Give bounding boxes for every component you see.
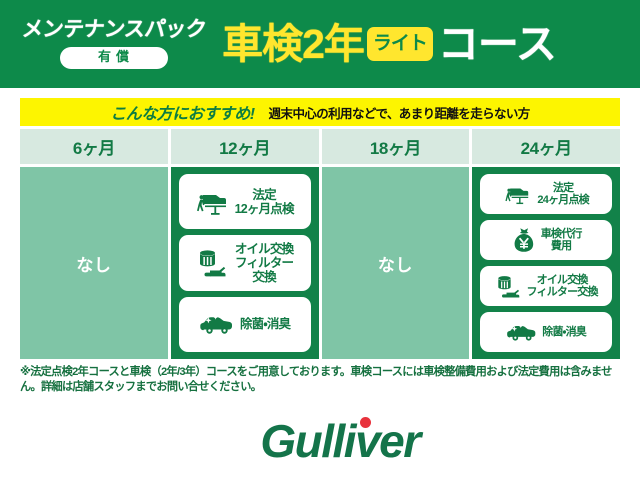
service-label-legal-inspection-24: 法定 24ヶ月点検	[537, 182, 588, 207]
shaken-2year-title: 車検2年	[222, 24, 364, 65]
service-card-oil-change-12[interactable]: オイル交換 フィルター 交換	[179, 235, 311, 290]
plan-column-18: 18ヶ月 なし	[322, 129, 470, 359]
column-body-12: 法定 12ヶ月点検	[171, 167, 319, 359]
service-label-agency-fee-24: 車検代行 費用	[541, 228, 582, 253]
content-area: こんな方におすすめ! 週末中心の利用などで、あまり距離を走らない方 6ヶ月 なし…	[0, 88, 640, 464]
gulliver-logo-label: Gulliver	[260, 415, 419, 467]
column-header-18: 18ヶ月	[322, 129, 470, 164]
column-body-18: なし	[322, 167, 470, 359]
recommend-label: こんな方におすすめ!	[110, 100, 254, 124]
column-body-24: 法定 24ヶ月点検	[472, 167, 620, 359]
brand-logo: Gulliver	[20, 418, 640, 464]
money-bag-yen-icon	[511, 227, 537, 253]
header-pack-group: メンテナンスパック 有償	[22, 19, 206, 68]
paid-badge: 有償	[60, 47, 168, 68]
plan-column-24: 24ヶ月	[472, 129, 620, 359]
column-header-12: 12ヶ月	[171, 129, 319, 164]
service-card-sanitize-24[interactable]: 除菌・消臭	[480, 312, 612, 352]
service-label-oil-change-12: オイル交換 フィルター 交換	[235, 242, 294, 284]
recommend-banner: こんな方におすすめ! 週末中心の利用などで、あまり距離を走らない方	[20, 98, 620, 126]
plan-column-6: 6ヶ月 なし	[20, 129, 168, 359]
plan-table: 6ヶ月 なし 12ヶ月	[20, 129, 620, 359]
service-card-sanitize-12[interactable]: 除菌・消臭	[179, 297, 311, 352]
recommend-description: 週末中心の利用などで、あまり距離を走らない方	[269, 103, 530, 122]
service-label-sanitize-24: 除菌・消臭	[542, 326, 586, 338]
header-banner: メンテナンスパック 有償 車検2年 ライト コース	[0, 0, 640, 88]
plan-column-12: 12ヶ月	[171, 129, 319, 359]
light-plan-badge: ライト	[367, 27, 433, 61]
course-title: コース	[438, 24, 556, 65]
gulliver-logo-text: Gulliver	[260, 418, 419, 464]
service-card-legal-inspection-12[interactable]: 法定 12ヶ月点検	[179, 174, 311, 229]
no-service-label-18: なし	[378, 251, 413, 276]
oil-filter-change-icon	[196, 248, 230, 278]
column-body-6: なし	[20, 167, 168, 359]
header-course-group: 車検2年 ライト コース	[222, 24, 640, 65]
car-sanitize-icon	[199, 313, 235, 335]
service-label-legal-inspection-12: 法定 12ヶ月点検	[235, 188, 294, 216]
column-header-24: 24ヶ月	[472, 129, 620, 164]
car-lift-inspection-icon	[196, 188, 230, 216]
no-service-label-6: なし	[76, 251, 111, 276]
service-card-agency-fee-24[interactable]: 車検代行 費用	[480, 220, 612, 260]
car-sanitize-icon	[506, 322, 538, 342]
service-card-legal-inspection-24[interactable]: 法定 24ヶ月点検	[480, 174, 612, 214]
column-header-6: 6ヶ月	[20, 129, 168, 164]
service-label-sanitize-12: 除菌・消臭	[240, 317, 290, 331]
maintenance-pack-title: メンテナンスパック	[21, 19, 207, 40]
car-lift-inspection-icon	[503, 183, 533, 205]
oil-filter-change-icon	[495, 274, 523, 299]
footnote-text: ※法定点検2年コースと車検（2年/3年）コースをご用意しております。車検コースに…	[20, 365, 620, 396]
service-card-oil-change-24[interactable]: オイル交換 フィルター交換	[480, 266, 612, 306]
service-label-oil-change-24: オイル交換 フィルター交換	[527, 274, 598, 299]
